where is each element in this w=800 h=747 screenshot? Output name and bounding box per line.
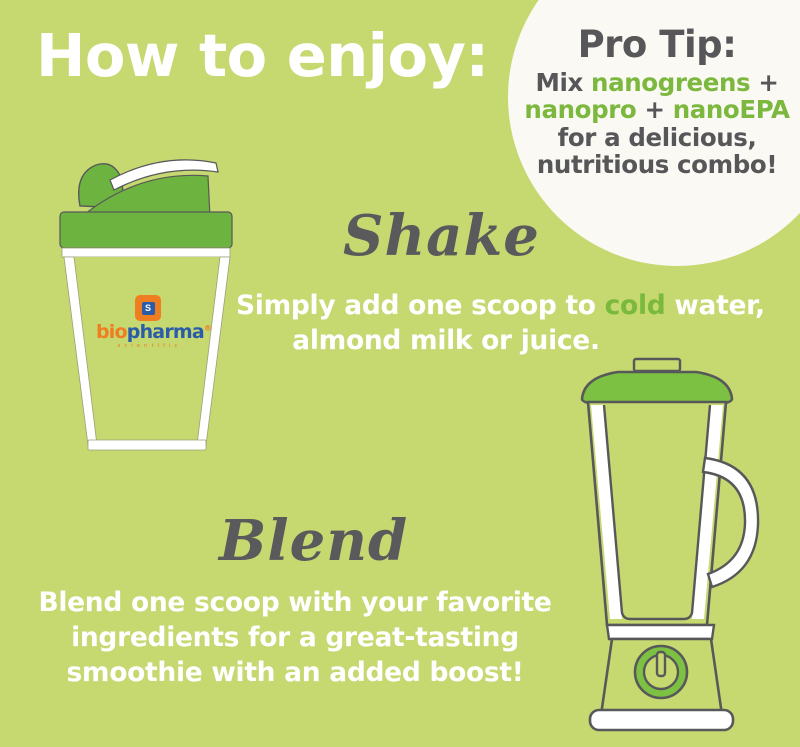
plain-text: water,	[665, 290, 764, 321]
biopharma-word-pharma: pharma	[127, 321, 204, 343]
plain-text: Mix	[536, 68, 592, 97]
plain-text: smoothie with an added boost!	[66, 657, 523, 688]
text-line: Simply add one scoop to cold water,	[236, 288, 656, 323]
biopharma-icon-glyph: S	[142, 302, 155, 315]
biopharma-wordmark: biopharma®	[96, 323, 200, 342]
plain-text: +	[636, 95, 672, 124]
protip-content: Pro Tip: Mix nanogreens +nanopro + nanoE…	[516, 26, 798, 179]
accent-text: cold	[605, 290, 666, 321]
protip-title: Pro Tip:	[516, 26, 798, 65]
text-line: Mix nanogreens +	[516, 69, 798, 96]
section-body-blend: Blend one scoop with your favoriteingred…	[30, 585, 560, 691]
text-line: almond milk or juice.	[236, 323, 656, 358]
protip-body: Mix nanogreens +nanopro + nanoEPAfor a d…	[516, 69, 798, 179]
plain-text: for a delicious,	[558, 123, 757, 152]
plain-text: almond milk or juice.	[292, 325, 599, 356]
section-heading-shake: Shake	[343, 208, 540, 264]
biopharma-logo-icon: S	[96, 295, 200, 321]
section-body-shake: Simply add one scoop to cold water,almon…	[236, 288, 656, 358]
page-title: How to enjoy:	[36, 26, 489, 85]
text-line: smoothie with an added boost!	[30, 655, 560, 690]
shaker-lid-collar	[60, 212, 232, 248]
poster-canvas: How to enjoy: Pro Tip: Mix nanogreens +n…	[0, 0, 800, 747]
biopharma-registered-mark: ®	[204, 324, 211, 333]
blender-jar-collar	[607, 625, 714, 639]
text-line: ingredients for a great-tasting	[30, 620, 560, 655]
text-line: nanopro + nanoEPA	[516, 96, 798, 123]
blender-foot	[590, 710, 733, 730]
text-line: Blend one scoop with your favorite	[30, 585, 560, 620]
blender-lid-knob	[634, 359, 680, 371]
biopharma-tagline: s c i e n t i f i c	[96, 343, 200, 349]
accent-text: nanoEPA	[673, 95, 790, 124]
plain-text: nutritious combo!	[537, 150, 777, 179]
biopharma-word-bio: bio	[96, 321, 127, 343]
accent-text: nanogreens	[591, 68, 750, 97]
power-icon	[657, 652, 665, 676]
shaker-base	[88, 440, 206, 450]
biopharma-logo: S biopharma® s c i e n t i f i c	[96, 295, 200, 349]
plain-text: ingredients for a great-tasting	[71, 622, 519, 653]
blender-illustration	[572, 355, 772, 735]
text-line: nutritious combo!	[516, 151, 798, 178]
plain-text: +	[750, 68, 778, 97]
plain-text: Simply add one scoop to	[236, 290, 605, 321]
text-line: for a delicious,	[516, 124, 798, 151]
shaker-neck-band	[62, 248, 230, 257]
plain-text: Blend one scoop with your favorite	[38, 587, 551, 618]
shaker-bottle-illustration: S biopharma® s c i e n t i f i c	[52, 140, 242, 460]
section-heading-blend: Blend	[219, 513, 408, 569]
accent-text: nanopro	[524, 95, 636, 124]
